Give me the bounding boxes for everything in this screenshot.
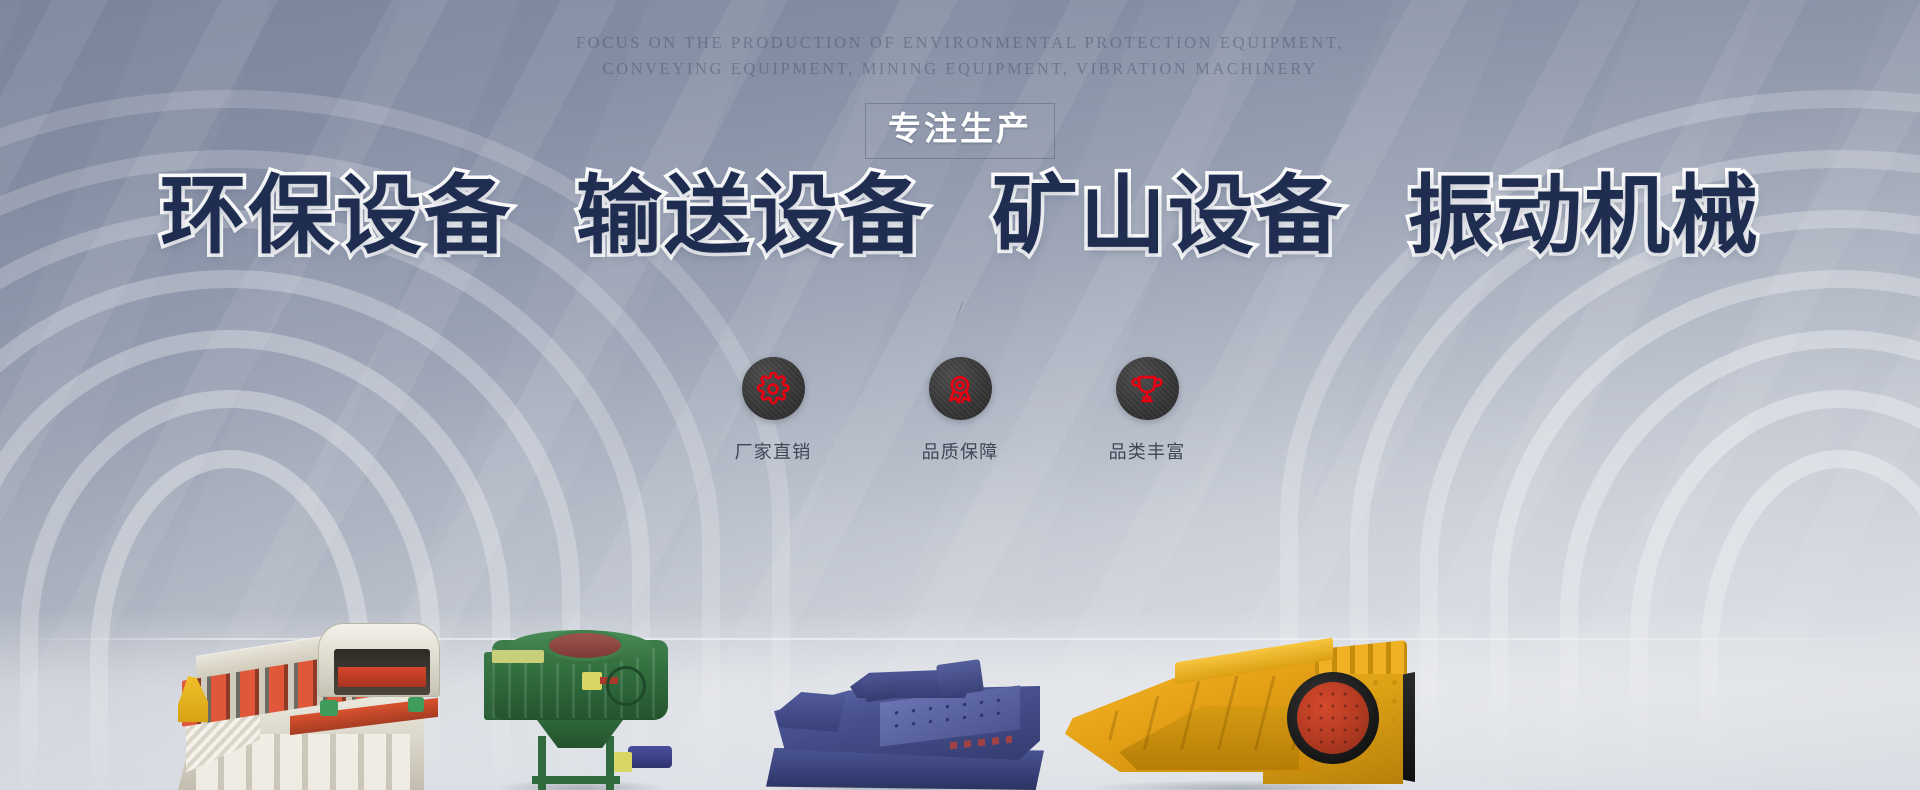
- hero-banner: FOCUS ON THE PRODUCTION OF ENVIRONMENTAL…: [0, 0, 1920, 790]
- tag-badge-wrapper: 专注生产: [0, 103, 1920, 159]
- eyebrow-tagline: FOCUS ON THE PRODUCTION OF ENVIRONMENTAL…: [0, 30, 1920, 82]
- medal-icon-circle: [929, 357, 992, 420]
- decorative-pointer-line: [951, 302, 963, 333]
- medal-icon: [943, 372, 977, 406]
- feature-item-factory-direct[interactable]: 厂家直销: [711, 357, 835, 464]
- banner-content: FOCUS ON THE PRODUCTION OF ENVIRONMENTAL…: [0, 0, 1920, 790]
- green-pan-mill-machine: [482, 622, 678, 790]
- yellow-vibrating-feeder: [1065, 615, 1415, 790]
- trophy-icon: [1130, 372, 1164, 406]
- blue-vibrating-screen: [760, 642, 1050, 790]
- page-title: 环保设备 输送设备 矿山设备 振动机械: [0, 168, 1920, 264]
- trophy-icon-circle: [1116, 357, 1179, 420]
- feature-list: 厂家直销 品质保障: [0, 357, 1920, 464]
- machine-showcase: [0, 460, 1920, 790]
- focus-production-badge: 专注生产: [865, 103, 1055, 159]
- feature-item-rich-categories[interactable]: 品类丰富: [1085, 357, 1209, 464]
- feature-item-quality-guarantee[interactable]: 品质保障: [898, 357, 1022, 464]
- filter-press-machine: [172, 615, 440, 790]
- gear-icon-circle: [742, 357, 805, 420]
- gear-icon: [756, 372, 790, 406]
